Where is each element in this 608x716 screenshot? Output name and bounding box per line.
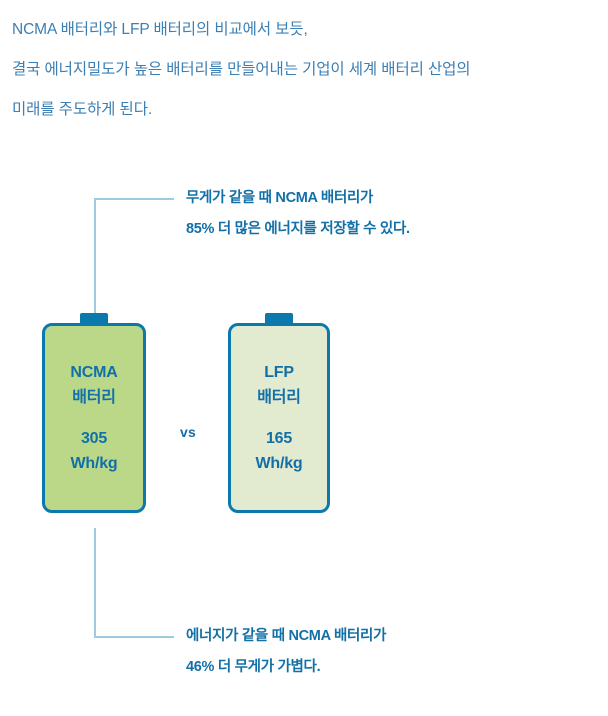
battery-comparison-diagram: 무게가 같을 때 NCMA 배터리가 85% 더 많은 에너지를 저장할 수 있… bbox=[0, 0, 608, 716]
annotation-top: 무게가 같을 때 NCMA 배터리가 85% 더 많은 에너지를 저장할 수 있… bbox=[186, 183, 410, 245]
battery-ncma-body: NCMA 배터리 305 Wh/kg bbox=[42, 323, 146, 513]
battery-ncma: NCMA 배터리 305 Wh/kg bbox=[42, 313, 146, 513]
battery-ncma-unit: Wh/kg bbox=[71, 451, 118, 476]
vs-separator: vs bbox=[176, 424, 200, 440]
annotation-bottom-line-2: 46% 더 무게가 가볍다. bbox=[186, 652, 386, 683]
annotation-bottom-line-1: 에너지가 같을 때 NCMA 배터리가 bbox=[186, 621, 386, 652]
battery-lfp: LFP 배터리 165 Wh/kg bbox=[228, 313, 330, 513]
battery-ncma-name: NCMA bbox=[70, 360, 117, 385]
battery-lfp-value: 165 bbox=[266, 426, 292, 451]
annotation-bottom: 에너지가 같을 때 NCMA 배터리가 46% 더 무게가 가볍다. bbox=[186, 621, 386, 683]
battery-lfp-unit: Wh/kg bbox=[256, 451, 303, 476]
battery-ncma-kind: 배터리 bbox=[72, 385, 116, 410]
leader-line-top-horizontal bbox=[94, 198, 174, 200]
leader-line-bottom-horizontal bbox=[94, 636, 174, 638]
battery-lfp-body: LFP 배터리 165 Wh/kg bbox=[228, 323, 330, 513]
battery-lfp-kind: 배터리 bbox=[257, 385, 301, 410]
battery-ncma-value: 305 bbox=[81, 426, 107, 451]
leader-line-top-vertical bbox=[94, 198, 96, 314]
annotation-top-line-1: 무게가 같을 때 NCMA 배터리가 bbox=[186, 183, 410, 214]
battery-lfp-name: LFP bbox=[264, 360, 294, 385]
annotation-top-line-2: 85% 더 많은 에너지를 저장할 수 있다. bbox=[186, 214, 410, 245]
leader-line-bottom-vertical bbox=[94, 528, 96, 638]
